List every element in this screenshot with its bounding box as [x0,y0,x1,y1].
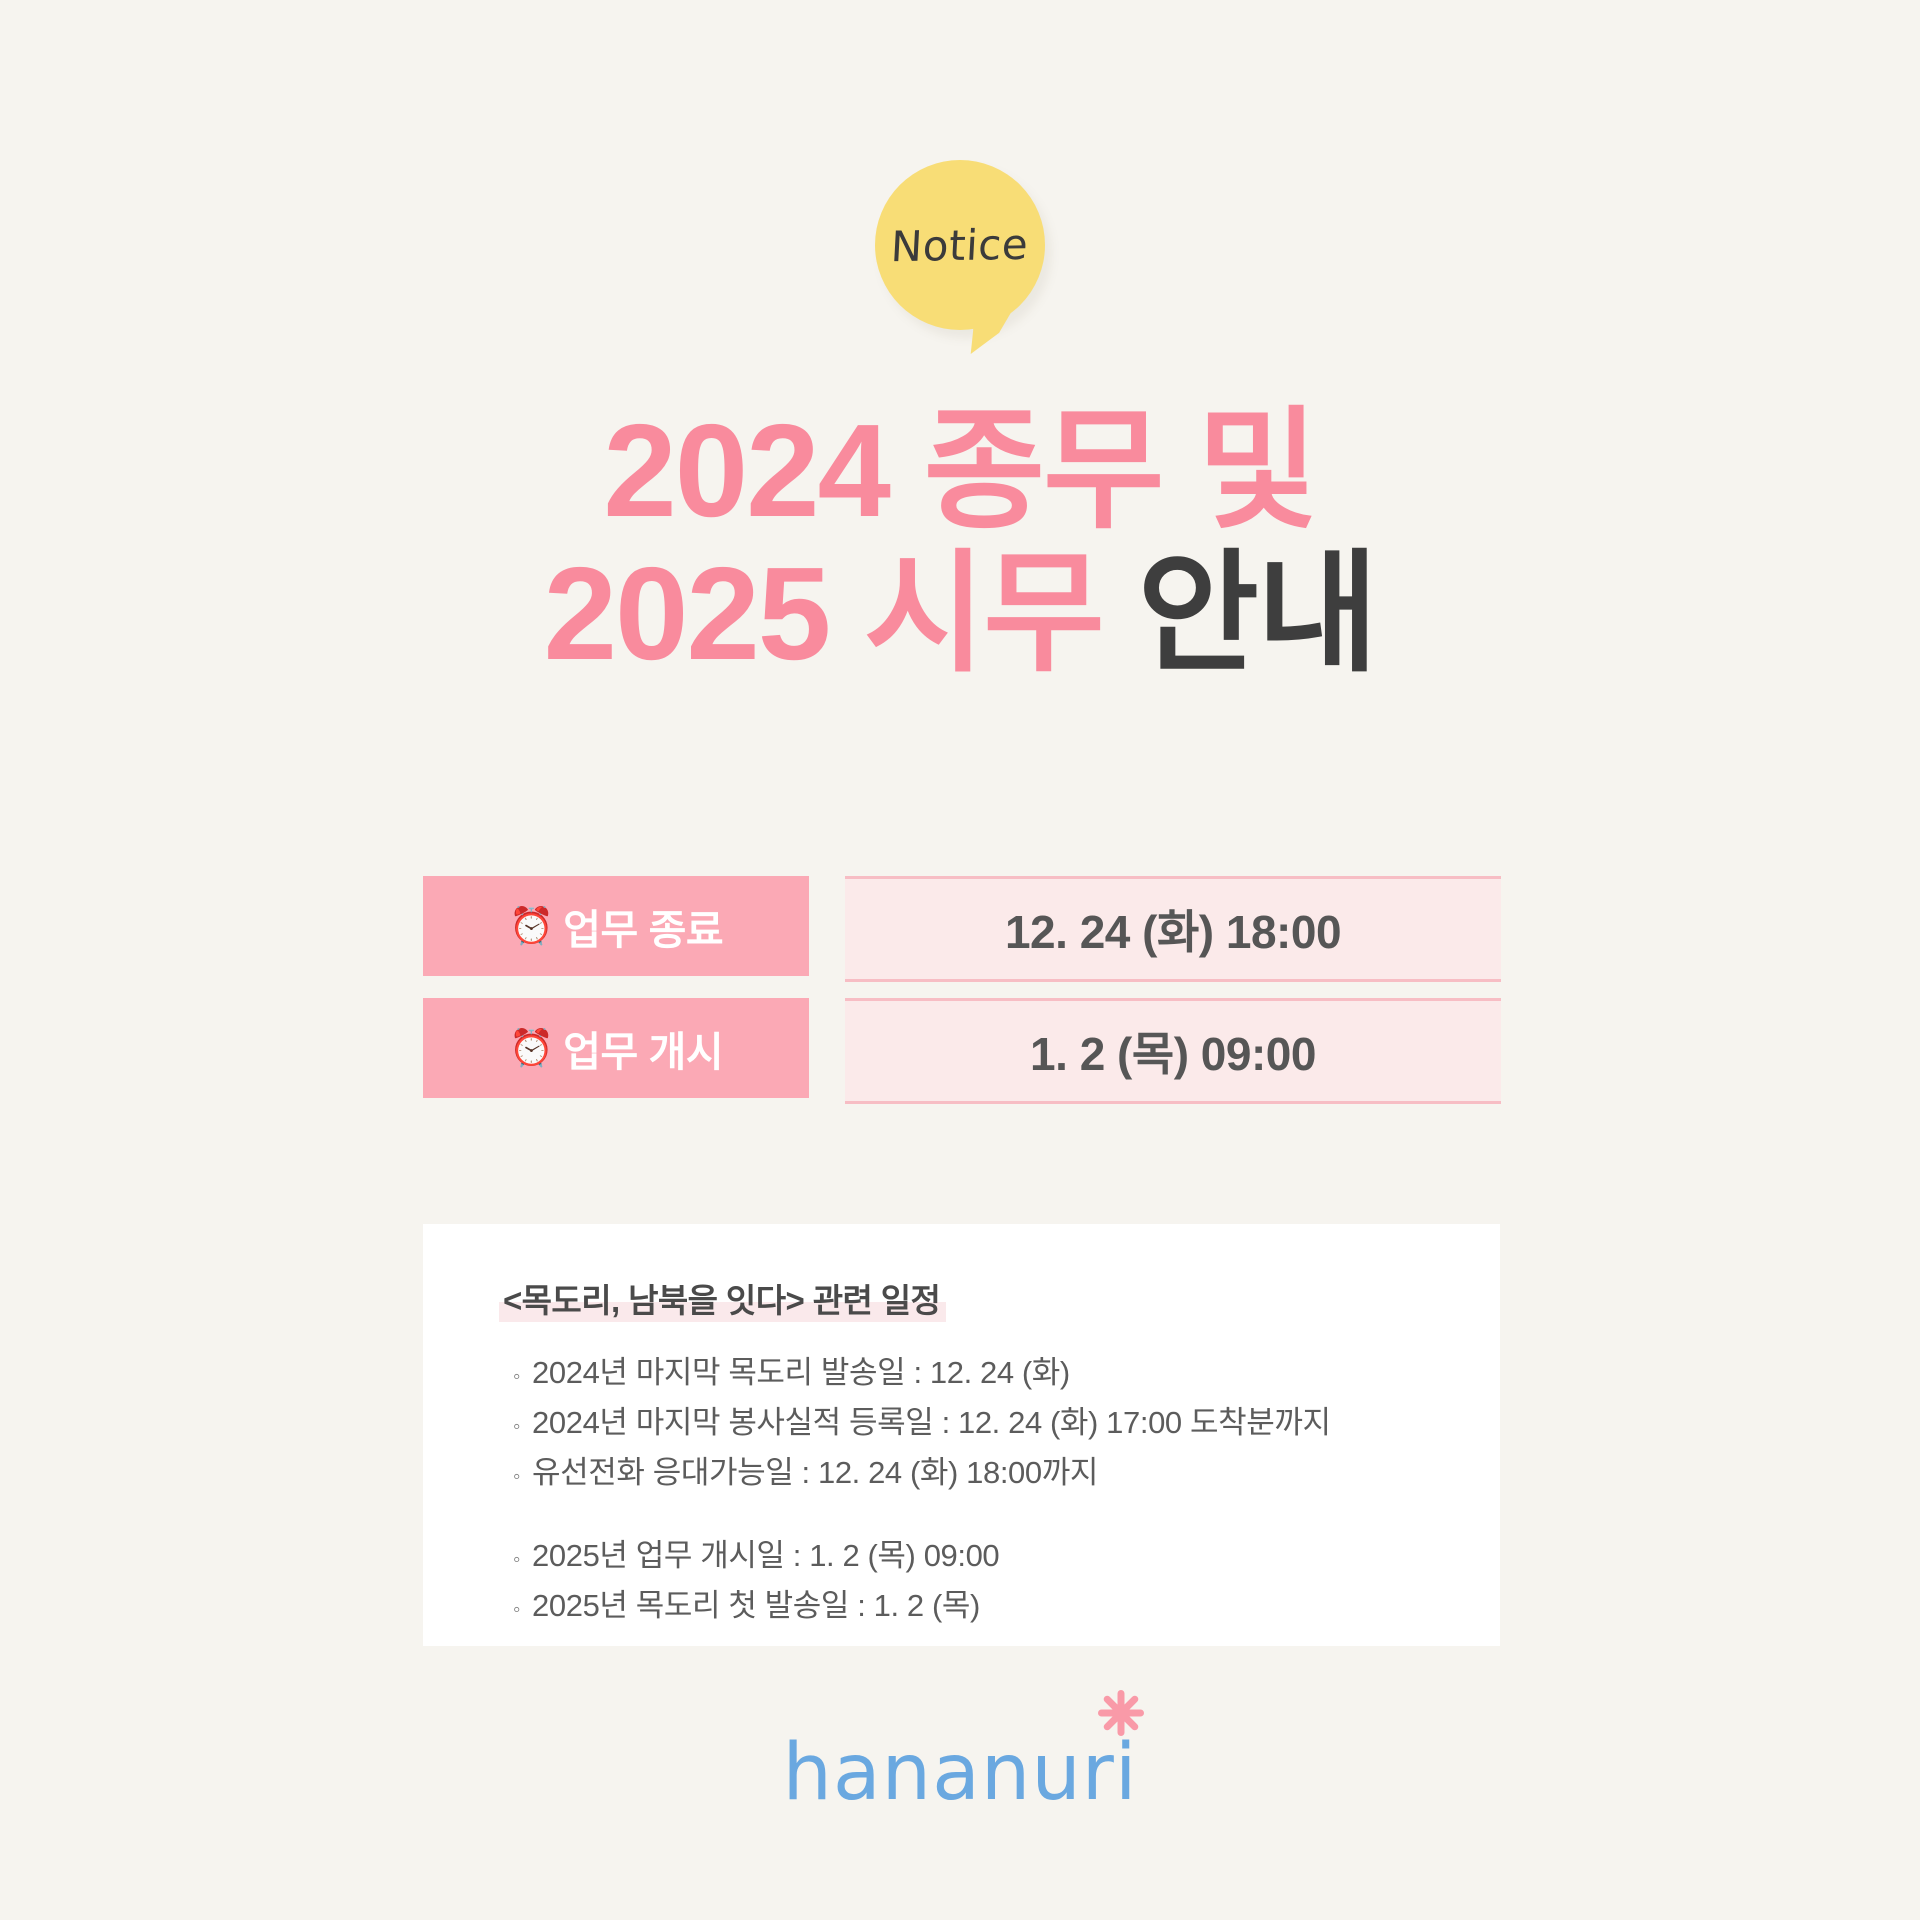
list-item: ◦ 2024년 마지막 봉사실적 등록일 : 12. 24 (화) 17:00 … [503,1398,1500,1448]
list-item: ◦ 2025년 목도리 첫 발송일 : 1. 2 (목) [503,1581,1500,1631]
bullet-group-2024: ◦ 2024년 마지막 목도리 발송일 : 12. 24 (화) ◦ 2024년… [503,1348,1500,1499]
bullet-dot-icon: ◦ [513,1549,520,1570]
page-title: 2024 종무 및 2025 시무 안내 [0,400,1920,685]
bullet-dot-icon: ◦ [513,1599,520,1620]
row-label-text: 업무 개시 [563,1018,723,1078]
bullet-dot-icon: ◦ [513,1366,520,1387]
bullet-dot-icon: ◦ [513,1416,520,1437]
list-item-text: 2024년 마지막 봉사실적 등록일 : 12. 24 (화) 17:00 도착… [532,1398,1331,1448]
alarm-clock-icon: ⏰ [509,908,553,944]
row-value-work-end: 12. 24 (화) 18:00 [845,876,1501,982]
list-item-text: 2025년 업무 개시일 : 1. 2 (목) 09:00 [532,1531,999,1581]
list-item: ◦ 2025년 업무 개시일 : 1. 2 (목) 09:00 [503,1531,1500,1581]
notice-speech-bubble: Notice [875,160,1045,330]
page-title-line-2: 2025 시무 안내 [0,543,1920,686]
row-label-text: 업무 종료 [563,896,723,956]
page-title-line-1: 2024 종무 및 [0,400,1920,543]
list-item: ◦ 2024년 마지막 목도리 발송일 : 12. 24 (화) [503,1348,1500,1398]
list-item-text: 유선전화 응대가능일 : 12. 24 (화) 18:00까지 [532,1448,1098,1498]
list-item-text: 2024년 마지막 목도리 발송일 : 12. 24 (화) [532,1348,1070,1398]
bullet-group-2025: ◦ 2025년 업무 개시일 : 1. 2 (목) 09:00 ◦ 2025년 … [503,1531,1500,1631]
table-row: ⏰ 업무 종료 12. 24 (화) 18:00 [423,876,1501,982]
notice-badge-label: Notice [890,219,1030,270]
detail-schedule-card: <목도리, 남북을 잇다> 관련 일정 ◦ 2024년 마지막 목도리 발송일 … [423,1224,1500,1646]
brand-logo: hananuri [782,1734,1137,1812]
notice-badge-area: Notice [0,160,1920,330]
flower-asterisk-icon [1098,1690,1144,1736]
speech-bubble-tail-icon [971,308,1012,358]
brand-logo-text: hananuri [782,1734,1137,1812]
card-heading: <목도리, 남북을 잇다> 관련 일정 [503,1274,940,1322]
row-label-work-start: ⏰ 업무 개시 [423,998,809,1098]
row-spacer [809,998,845,1104]
page-title-line-2-dark-text: 안내 [1138,540,1377,687]
table-row: ⏰ 업무 개시 1. 2 (목) 09:00 [423,998,1501,1104]
row-spacer [809,876,845,982]
footer-logo-area: hananuri [0,1734,1920,1812]
bullet-dot-icon: ◦ [513,1466,520,1487]
card-heading-text: <목도리, 남북을 잇다> 관련 일정 [503,1282,940,1319]
alarm-clock-icon: ⏰ [509,1030,553,1066]
schedule-summary-table: ⏰ 업무 종료 12. 24 (화) 18:00 ⏰ 업무 개시 1. 2 (목… [423,876,1501,1120]
row-label-work-end: ⏰ 업무 종료 [423,876,809,976]
page-title-line-2-pink-text: 2025 시무 [544,540,1103,687]
list-item-text: 2025년 목도리 첫 발송일 : 1. 2 (목) [532,1581,980,1631]
row-value-work-start: 1. 2 (목) 09:00 [845,998,1501,1104]
list-item: ◦ 유선전화 응대가능일 : 12. 24 (화) 18:00까지 [503,1448,1500,1498]
page-title-line-1-text: 2024 종무 및 [603,397,1316,544]
